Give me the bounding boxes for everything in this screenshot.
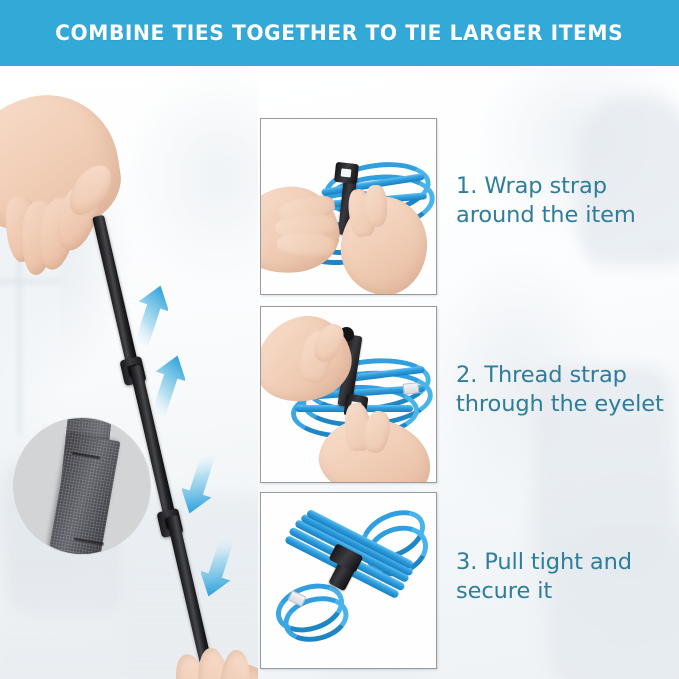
cable-connector bbox=[402, 382, 419, 395]
strap-connection-closeup bbox=[14, 418, 150, 554]
step-caption-1: 1. Wrap strap around the item bbox=[456, 172, 679, 231]
step-caption-3: 3. Pull tight and secure it bbox=[456, 548, 679, 607]
step-caption-2: 2. Thread strap through the eyelet bbox=[456, 361, 679, 420]
step-photo-3 bbox=[260, 492, 437, 669]
infographic-page: COMBINE TIES TOGETHER TO TIE LARGER ITEM… bbox=[0, 0, 679, 679]
velcro-buckle bbox=[334, 162, 359, 184]
steps-area: 1. Wrap strap around the item 2. Thread … bbox=[258, 66, 679, 679]
arrow-down-icon bbox=[201, 536, 235, 598]
arrow-up-icon bbox=[134, 284, 168, 346]
velcro-eyelet-icon bbox=[341, 168, 352, 177]
inset-strap-front bbox=[43, 433, 120, 554]
finger bbox=[277, 232, 336, 258]
step-caption-3-line1: 3. Pull tight and bbox=[456, 548, 679, 577]
step-caption-1-line1: 1. Wrap strap bbox=[456, 172, 679, 201]
step-photo-3-image bbox=[261, 493, 436, 668]
thumb bbox=[364, 185, 387, 228]
step-photo-2 bbox=[260, 306, 437, 483]
arrow-down-icon bbox=[182, 453, 216, 515]
step-photo-1-image bbox=[261, 119, 436, 294]
step-caption-2-line1: 2. Thread strap bbox=[456, 361, 679, 390]
step-caption-3-line2: secure it bbox=[456, 577, 679, 606]
step-caption-1-line2: around the item bbox=[456, 201, 679, 230]
step-caption-2-line2: through the eyelet bbox=[456, 390, 679, 419]
step-photo-1 bbox=[260, 118, 437, 295]
page-title: COMBINE TIES TOGETHER TO TIE LARGER ITEM… bbox=[55, 21, 623, 46]
header-banner: COMBINE TIES TOGETHER TO TIE LARGER ITEM… bbox=[0, 0, 679, 66]
body-area: 1. Wrap strap around the item 2. Thread … bbox=[0, 66, 679, 679]
hero-photo bbox=[0, 66, 258, 679]
step-photo-2-image bbox=[261, 307, 436, 482]
arrow-up-icon bbox=[151, 354, 185, 416]
